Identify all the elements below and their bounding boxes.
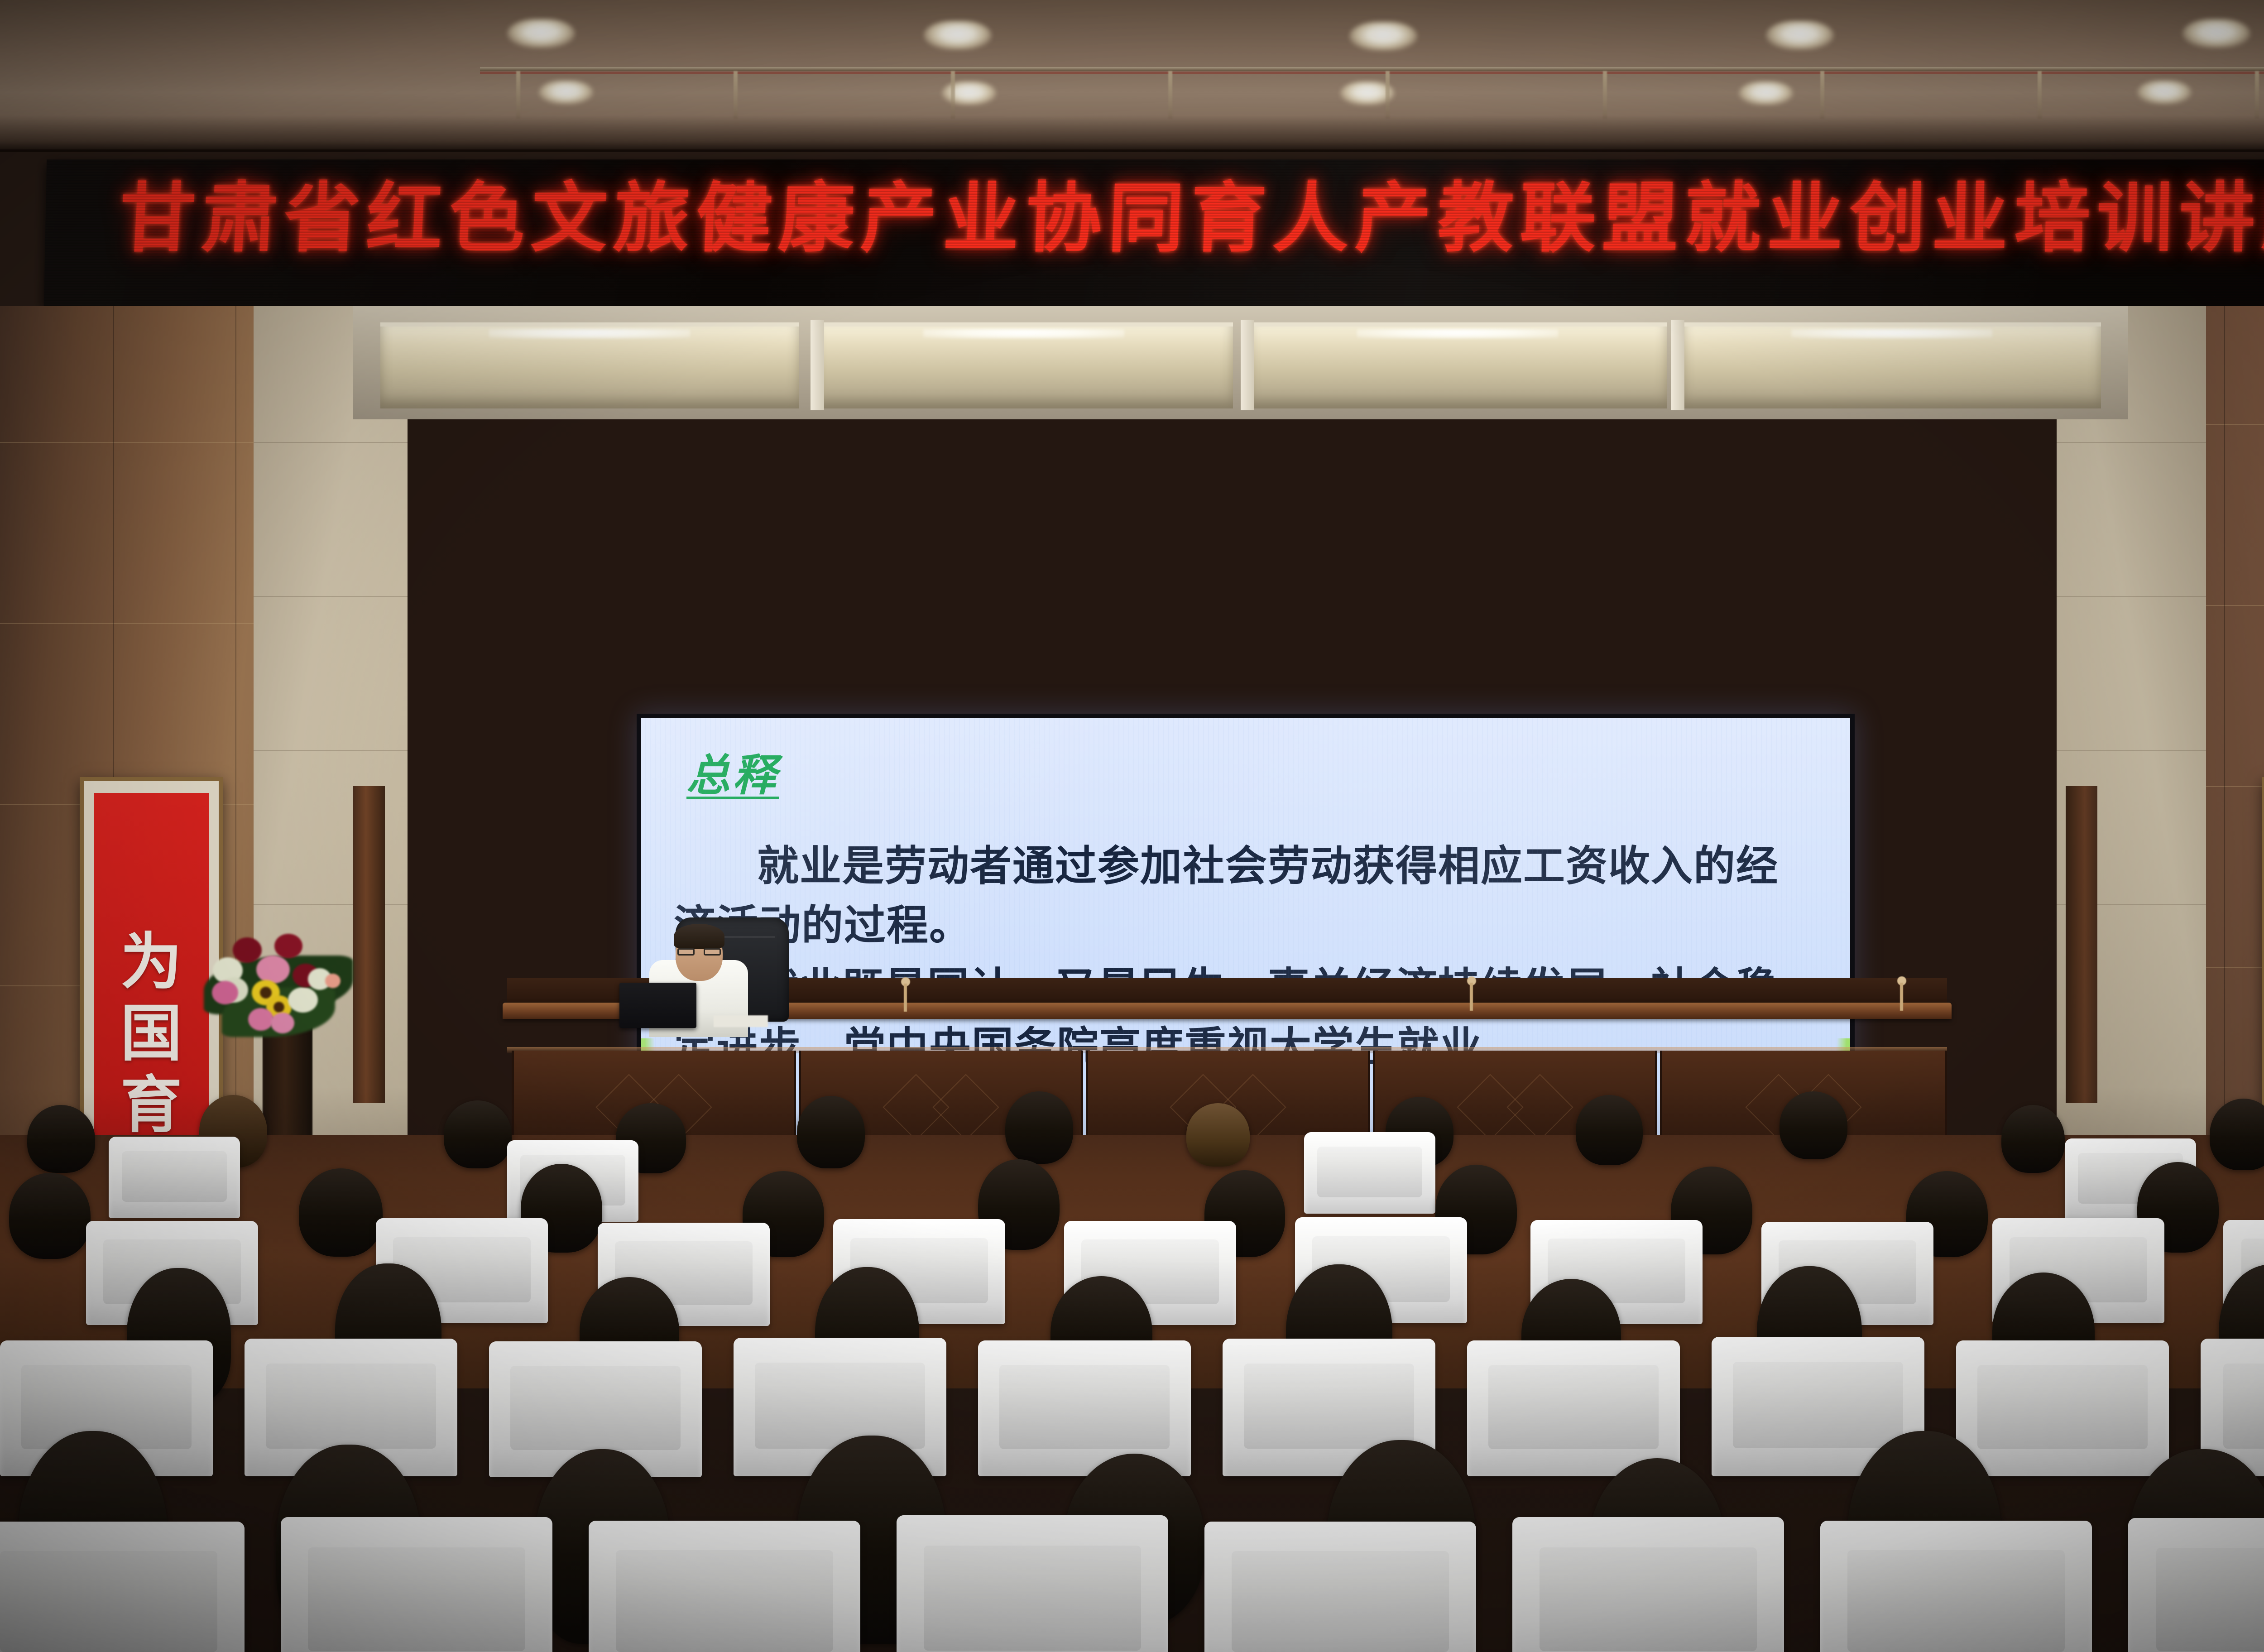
audience-chair (281, 1517, 552, 1652)
audience-head (1576, 1095, 1643, 1165)
flower-pink (248, 1008, 273, 1031)
audience-chair (1204, 1522, 1476, 1652)
desk-microphone (904, 984, 907, 1012)
flower-peach (325, 974, 341, 988)
flower-pink-lily (256, 956, 290, 984)
banner-hanger (1168, 71, 1172, 119)
light-track (480, 67, 2264, 71)
ceiling-spotlight (924, 21, 992, 50)
led-banner-text: 甘肃省红色文旅健康产业协同育人产教联盟就业创业培训讲座 (43, 180, 2264, 256)
flower-red (233, 937, 262, 963)
ceiling-coffer (380, 322, 799, 408)
ceiling-spotlight (1349, 22, 1417, 51)
audience-chair (1467, 1340, 1680, 1476)
audience-head (444, 1100, 512, 1168)
ceiling-spotlight (539, 81, 593, 104)
led-board: 甘肃省红色文旅健康产业协同育人产教联盟就业创业培训讲座 (44, 159, 2264, 306)
ceiling (0, 0, 2264, 149)
audience-chair (1304, 1132, 1435, 1214)
audience-chair (1820, 1521, 2092, 1652)
scroll-left-char: 国 (120, 1003, 182, 1064)
banner-hanger (734, 71, 738, 119)
audience-head (299, 1168, 383, 1257)
light-track-accent (480, 72, 2264, 74)
banner-hanger (2038, 71, 2042, 119)
ceiling-coffer (1248, 322, 1667, 408)
ceiling-coffer (1683, 322, 2101, 408)
laptop-computer (619, 983, 696, 1028)
ceiling-beam (811, 320, 824, 410)
audience-chair (1956, 1340, 2169, 1476)
ceiling-spotlight (1739, 82, 1793, 105)
banner-hanger (951, 71, 955, 119)
ceiling-shadow (0, 115, 2264, 152)
audience-chair (897, 1515, 1168, 1652)
audience-head (1005, 1091, 1073, 1164)
audience-head (1780, 1091, 1847, 1159)
audience-head (9, 1173, 91, 1259)
flower-pink (271, 1013, 294, 1033)
flower-red (274, 934, 302, 958)
speaker-hair (674, 924, 724, 949)
banner-hanger (1603, 71, 1607, 119)
desk-papers (714, 1015, 768, 1027)
audience-head (2210, 1099, 2264, 1170)
audience-head (1186, 1103, 1250, 1167)
banner-hanger (1820, 71, 1824, 119)
side-door-right[interactable] (2066, 786, 2097, 1103)
floral-arrangement (195, 924, 376, 1064)
audience-chair (589, 1521, 860, 1652)
ceiling-spotlight (942, 82, 996, 105)
ceiling-spotlight (507, 19, 575, 48)
desk-microphone (1900, 983, 1903, 1011)
flower-white (288, 987, 318, 1013)
audience-chair (2128, 1518, 2264, 1652)
ceiling-spotlight (2182, 19, 2250, 48)
audience-head (797, 1096, 865, 1168)
seated-speaker (634, 901, 788, 1037)
audience-chair (1512, 1517, 1784, 1652)
banner-hanger (516, 71, 520, 119)
audience-chair (978, 1340, 1191, 1476)
ceiling-coffer (815, 322, 1233, 408)
ceiling-beam (1241, 320, 1254, 410)
slide-paragraph: 就业是劳动者通过参加社会劳动获得相应工资收入的经济活动的过程。 (674, 837, 1811, 955)
audience-chair (109, 1137, 240, 1218)
seated-audience (0, 1087, 2264, 1652)
ceiling-spotlight (2137, 81, 2192, 104)
scroll-left-char: 为 (120, 931, 182, 993)
led-banner: 甘肃省红色文旅健康产业协同育人产教联盟就业创业培训讲座 (45, 159, 2264, 306)
audience-chair (0, 1522, 245, 1652)
ceiling-spotlight (1766, 21, 1834, 50)
banner-hanger (1386, 71, 1390, 119)
audience-head (2001, 1105, 2065, 1173)
desk-microphone (1470, 983, 1473, 1011)
flower-pink (212, 981, 238, 1004)
speaker-glasses (677, 948, 721, 956)
audience-head (27, 1105, 95, 1173)
lecture-hall-photo: 甘肃省红色文旅健康产业协同育人产教联盟就业创业培训讲座 (0, 0, 2264, 1652)
slide-title: 总释 (686, 740, 779, 803)
banner-hanger (2255, 71, 2259, 119)
ceiling-beam (1671, 320, 1684, 410)
